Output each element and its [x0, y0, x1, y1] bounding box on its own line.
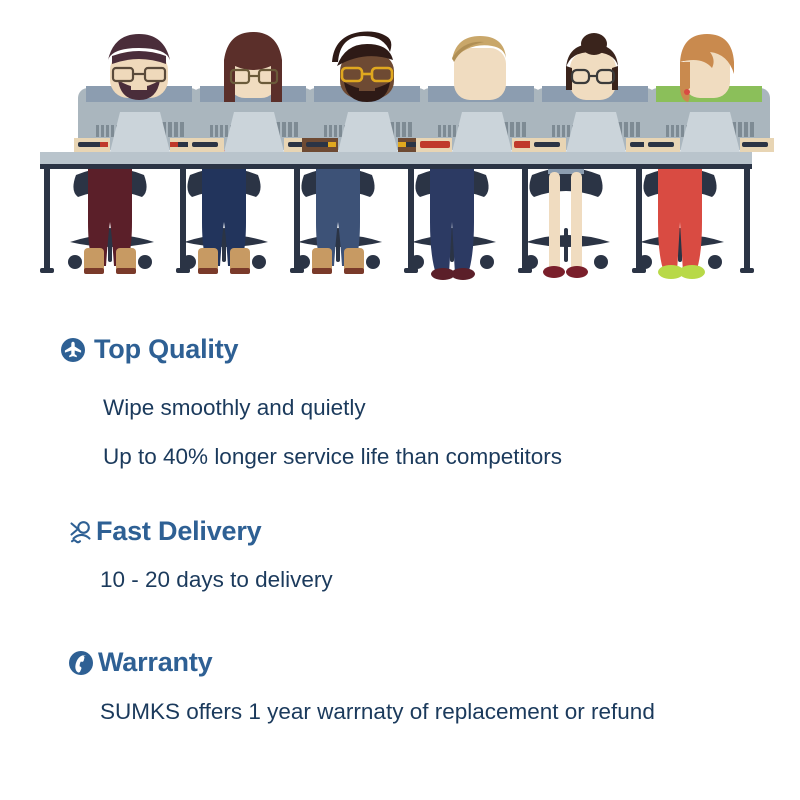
person-6 [656, 34, 762, 102]
feature-heading-row: Fast Delivery [68, 518, 262, 545]
person-5 [542, 33, 648, 102]
person-2 [200, 32, 306, 102]
feature-line-service-life: Up to 40% longer service life than compe… [103, 445, 562, 469]
airplane-badge-icon [60, 337, 86, 363]
person-1 [86, 34, 192, 102]
feature-line-wipe-smoothly: Wipe smoothly and quietly [103, 396, 366, 420]
feature-top-quality: Top Quality [60, 336, 238, 363]
feature-line-warranty-terms: SUMKS offers 1 year warrnaty of replacem… [100, 700, 655, 724]
shared-desk [40, 152, 754, 273]
person-outline-icon [68, 519, 94, 545]
office-chairs [68, 168, 724, 269]
feature-warranty: Warranty [68, 649, 212, 676]
office-workers-svg [0, 0, 800, 300]
feature-heading-row: Top Quality [60, 336, 238, 363]
feature-fast-delivery: Fast Delivery [68, 518, 262, 545]
feature-title-top-quality: Top Quality [94, 336, 238, 363]
phone-badge-icon [68, 650, 94, 676]
feature-heading-row: Warranty [68, 649, 212, 676]
feature-title-fast-delivery: Fast Delivery [96, 518, 262, 545]
person-3 [314, 32, 420, 103]
person-4 [428, 36, 534, 102]
seated-legs [84, 150, 705, 280]
feature-line-delivery-days: 10 - 20 days to delivery [100, 568, 333, 592]
feature-title-warranty: Warranty [98, 649, 212, 676]
hero-illustration [0, 0, 800, 300]
